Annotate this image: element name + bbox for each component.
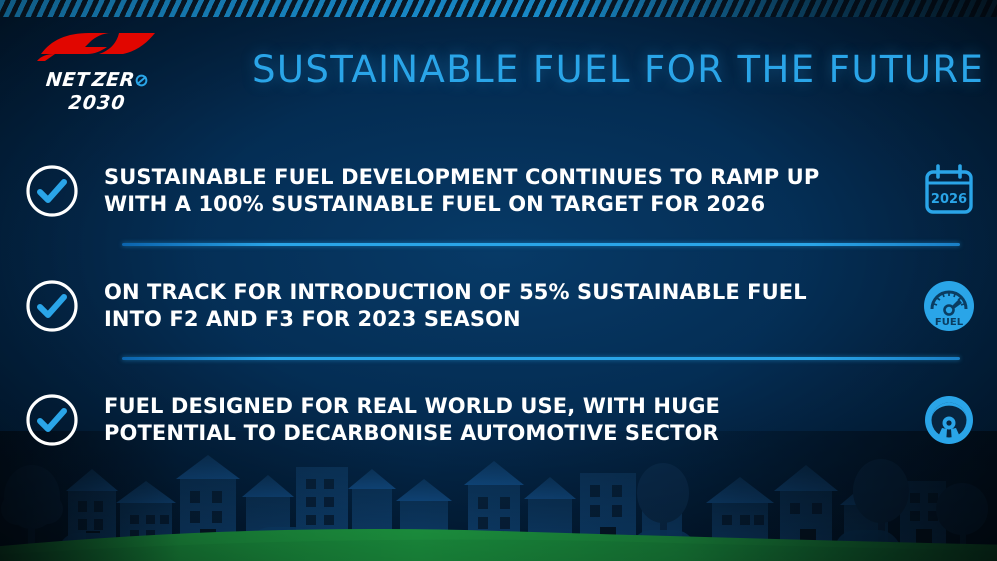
bullet-row: SUSTAINABLE FUEL DEVELOPMENT CONTINUES T… — [0, 152, 997, 230]
row-divider — [122, 357, 960, 360]
calendar-icon-wrap: 2026 — [901, 161, 997, 221]
check-circle-wrap — [0, 164, 104, 218]
check-circle-icon — [25, 393, 79, 447]
check-circle-icon — [25, 279, 79, 333]
zero-ring-icon — [135, 74, 148, 87]
stripe-band-fade — [0, 0, 997, 17]
fuel-gauge-icon-wrap: FUEL — [901, 278, 997, 334]
bullet-line-2: WITH A 100% SUSTAINABLE FUEL ON TARGET F… — [104, 191, 887, 219]
bullet-text: ON TRACK FOR INTRODUCTION OF 55% SUSTAIN… — [104, 279, 901, 334]
fuel-gauge-label: FUEL — [935, 317, 964, 328]
bullet-row: ON TRACK FOR INTRODUCTION OF 55% SUSTAIN… — [0, 267, 997, 345]
check-circle-wrap — [0, 279, 104, 333]
page-title: SUSTAINABLE FUEL FOR THE FUTURE — [252, 48, 984, 91]
bullet-row: FUEL DESIGNED FOR REAL WORLD USE, WITH H… — [0, 381, 997, 459]
net-word: NET — [45, 69, 91, 91]
slide-root: NET ZER 2030 SUSTAINABLE FUEL FOR THE FU… — [0, 0, 997, 561]
fuel-gauge-icon: FUEL — [921, 278, 977, 334]
bullet-line-2: POTENTIAL TO DECARBONISE AUTOMOTIVE SECT… — [104, 420, 887, 448]
row-divider — [122, 243, 960, 246]
bullet-text: SUSTAINABLE FUEL DEVELOPMENT CONTINUES T… — [104, 164, 901, 219]
f1-net-zero-logo: NET ZER 2030 — [22, 30, 172, 114]
bullet-line-1: ON TRACK FOR INTRODUCTION OF 55% SUSTAIN… — [104, 279, 887, 307]
bullet-line-1: SUSTAINABLE FUEL DEVELOPMENT CONTINUES T… — [104, 164, 887, 192]
steering-wheel-icon-wrap — [901, 392, 997, 448]
steering-wheel-icon — [921, 392, 977, 448]
calendar-icon: 2026 — [919, 161, 979, 221]
bullet-line-2: INTO F2 AND F3 FOR 2023 SEASON — [104, 306, 887, 334]
bullet-line-1: FUEL DESIGNED FOR REAL WORLD USE, WITH H… — [104, 393, 887, 421]
check-circle-wrap — [0, 393, 104, 447]
net-zero-wordmark: NET ZER — [22, 69, 172, 91]
check-circle-icon — [25, 164, 79, 218]
f1-logo-icon — [37, 30, 157, 64]
bullet-text: FUEL DESIGNED FOR REAL WORLD USE, WITH H… — [104, 393, 901, 448]
net-zero-year: 2030 — [21, 92, 173, 114]
zero-word: ZER — [91, 69, 136, 91]
calendar-year-label: 2026 — [931, 192, 967, 207]
